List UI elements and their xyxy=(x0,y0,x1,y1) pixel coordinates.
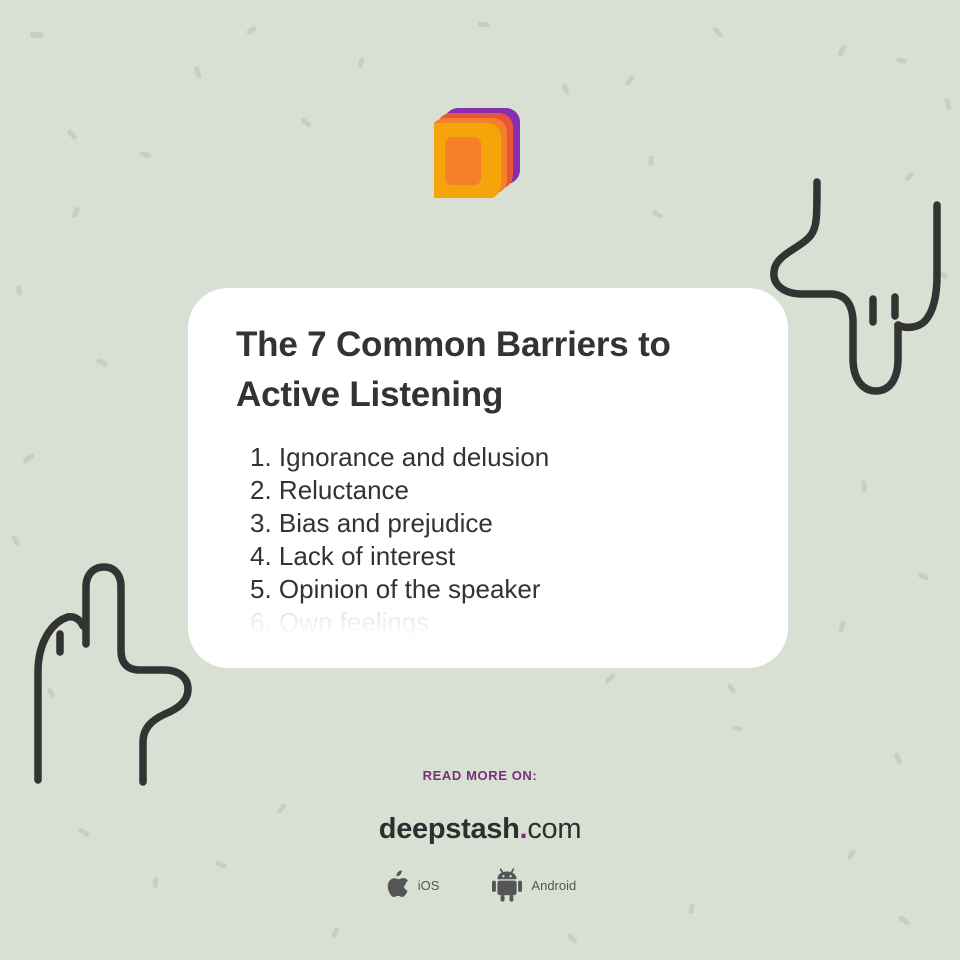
wordmark-name: deepstash xyxy=(379,813,520,845)
background-speck xyxy=(22,452,35,464)
background-speck xyxy=(712,26,724,38)
background-speck xyxy=(16,285,22,296)
list-item: Opinion of the speaker xyxy=(250,573,740,606)
background-speck xyxy=(896,57,908,65)
background-speck xyxy=(688,903,695,915)
background-speck xyxy=(30,32,44,38)
deepstash-wordmark[interactable]: deepstash.com xyxy=(0,813,960,846)
footer: READ MORE ON: deepstash.com iOS xyxy=(0,768,960,902)
background-speck xyxy=(651,210,663,219)
background-speck xyxy=(71,206,81,219)
read-more-label: READ MORE ON: xyxy=(0,768,960,783)
hand-pointing-up-icon xyxy=(22,562,207,787)
background-speck xyxy=(561,82,570,94)
store-badge-android[interactable]: Android xyxy=(491,868,576,902)
idea-card: The 7 Common Barriers to Active Listenin… xyxy=(188,288,788,668)
background-speck xyxy=(566,933,578,945)
list-item: Reluctance xyxy=(250,474,740,507)
background-speck xyxy=(96,358,109,367)
list-item: Ignorance and delusion xyxy=(250,441,740,474)
list-item: Own feelings xyxy=(250,606,740,639)
list-item: Lack of interest xyxy=(250,540,740,573)
page-title: The 7 Common Barriers to Active Listenin… xyxy=(236,320,740,419)
list-item: Bias and prejudice xyxy=(250,507,740,540)
background-speck xyxy=(893,752,902,765)
android-icon xyxy=(491,868,523,902)
deepstash-idea-card-image: The 7 Common Barriers to Active Listenin… xyxy=(0,0,960,960)
background-speck xyxy=(726,683,737,695)
background-speck xyxy=(478,21,491,28)
background-speck xyxy=(604,673,616,685)
store-badge-ios[interactable]: iOS xyxy=(384,869,440,901)
deepstash-logo xyxy=(0,102,960,198)
background-speck xyxy=(898,915,911,926)
background-speck xyxy=(861,480,867,492)
store-label-android: Android xyxy=(531,878,576,893)
background-speck xyxy=(357,57,364,68)
background-speck xyxy=(194,66,202,79)
background-speck xyxy=(732,725,743,732)
background-speck xyxy=(246,25,258,35)
store-label-ios: iOS xyxy=(418,878,440,893)
apple-icon xyxy=(384,869,410,901)
background-speck xyxy=(331,926,340,938)
barriers-list: Ignorance and delusionReluctanceBias and… xyxy=(236,441,740,639)
background-speck xyxy=(624,74,636,86)
store-badges: iOS xyxy=(0,868,960,902)
background-speck xyxy=(837,44,847,57)
hand-pointing-down-icon xyxy=(760,175,960,400)
background-speck xyxy=(917,572,929,581)
background-speck xyxy=(10,535,20,547)
background-speck xyxy=(838,620,846,633)
wordmark-tld: com xyxy=(527,813,581,845)
